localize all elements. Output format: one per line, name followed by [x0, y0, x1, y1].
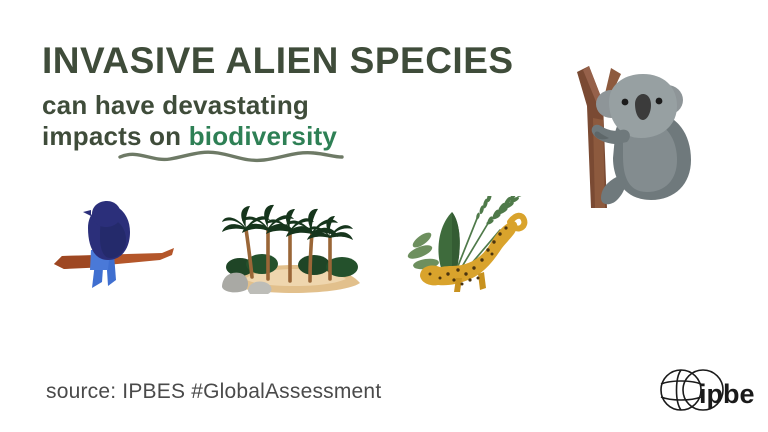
- panel-native-species: for the native species: [50, 198, 200, 294]
- source-attribution: source: IPBES #GlobalAssessment: [46, 380, 381, 404]
- bird-on-branch-illustration: [50, 198, 200, 294]
- koala-on-tree-illustration: [563, 58, 713, 208]
- ipbes-globe-logo: ipbes: [655, 366, 755, 422]
- infographic-canvas: INVASIVE ALIEN SPECIES can have devastat…: [0, 0, 768, 432]
- page-subtitle: can have devastating impacts on biodiver…: [42, 90, 562, 151]
- headline-block: INVASIVE ALIEN SPECIES can have devastat…: [42, 42, 562, 151]
- subtitle-prefix: impacts on: [42, 121, 189, 151]
- panel-island-assemblages: for assemblages on islands: [218, 195, 370, 295]
- jaguar-foliage-illustration: [404, 196, 540, 296]
- page-title: INVASIVE ALIEN SPECIES: [42, 42, 562, 81]
- subtitle-highlight-biodiversity: biodiversity: [189, 121, 337, 151]
- palm-island-illustration: [218, 195, 370, 295]
- subtitle-line-1: can have devastating: [42, 90, 562, 121]
- panel-mainland-assemblages: for mainland assemblages: [404, 196, 540, 296]
- subtitle-line-2: impacts on biodiversity: [42, 121, 562, 152]
- wavy-underline-icon: [118, 148, 344, 164]
- panel-endemic-species: for assemblages in other settings with h…: [563, 58, 713, 208]
- ipbes-wordmark: ipbes: [699, 379, 755, 409]
